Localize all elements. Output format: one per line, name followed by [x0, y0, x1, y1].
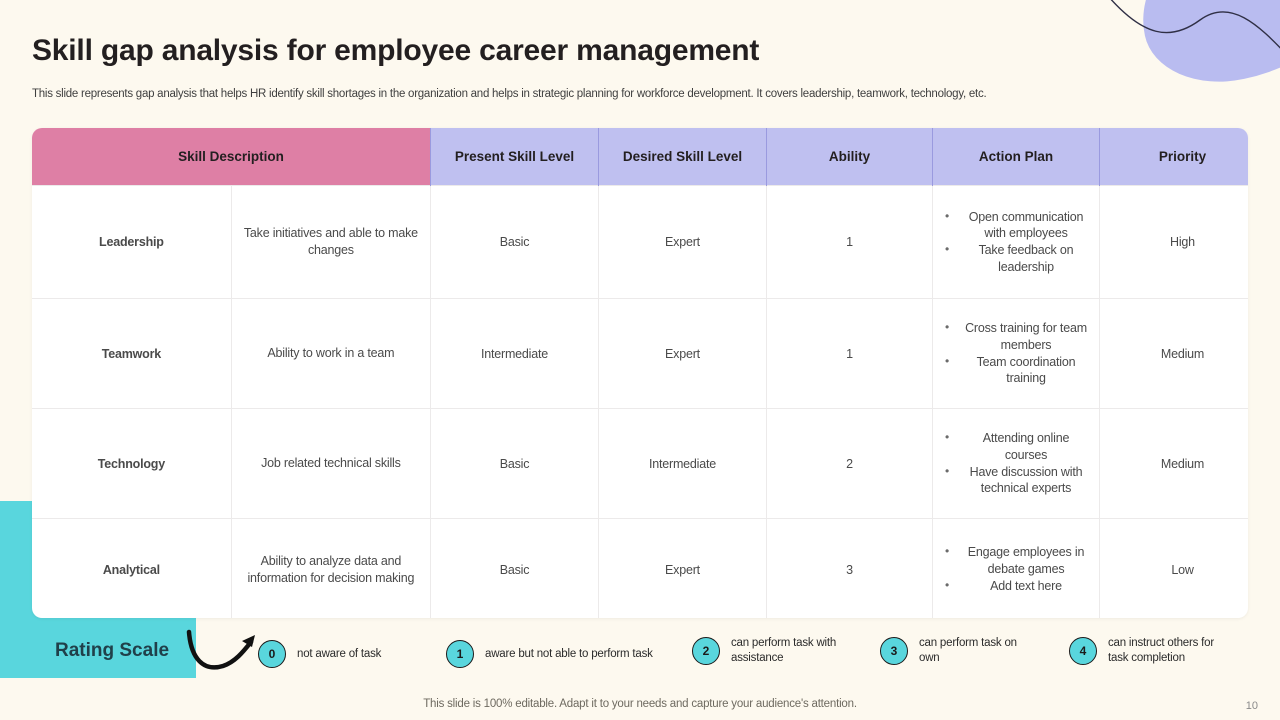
rating-value-badge: 3 [880, 637, 908, 665]
curved-arrow-icon [185, 628, 265, 688]
action-plan-item: Team coordination training [941, 354, 1091, 388]
cell-skill-description: Take initiatives and able to make change… [231, 186, 430, 299]
skill-gap-table-container: Skill Description Present Skill Level De… [32, 128, 1248, 618]
action-plan-item: Cross training for team members [941, 320, 1091, 354]
cell-skill-description: Ability to analyze data and information … [231, 519, 430, 619]
cell-ability: 3 [767, 519, 933, 619]
cell-present-skill-level: Basic [431, 186, 599, 299]
action-plan-item: Have discussion with technical experts [941, 464, 1091, 498]
rating-scale-label: Rating Scale [55, 640, 169, 662]
cell-priority: Low [1100, 519, 1249, 619]
skill-gap-table: Skill Description Present Skill Level De… [32, 128, 1248, 618]
cell-desired-skill-level: Expert [599, 299, 767, 409]
table-body: LeadershipTake initiatives and able to m… [32, 186, 1248, 619]
rating-scale-list: 0not aware of task1aware but not able to… [258, 636, 1268, 676]
table-row: TechnologyJob related technical skillsBa… [32, 409, 1248, 519]
slide-canvas: Skill gap analysis for employee career m… [0, 0, 1280, 720]
rating-scale-item: 2can perform task with assistance [692, 636, 851, 666]
cell-desired-skill-level: Expert [599, 519, 767, 619]
rating-value-badge: 1 [446, 640, 474, 668]
page-subtitle: This slide represents gap analysis that … [32, 88, 1212, 100]
cell-present-skill-level: Basic [431, 519, 599, 619]
rating-value-badge: 4 [1069, 637, 1097, 665]
column-header-priority: Priority [1100, 128, 1249, 186]
cell-present-skill-level: Intermediate [431, 299, 599, 409]
cell-priority: Medium [1100, 299, 1249, 409]
rating-description: aware but not able to perform task [485, 647, 653, 662]
rating-scale-item: 4can instruct others for task completion [1069, 636, 1228, 666]
table-header-row: Skill Description Present Skill Level De… [32, 128, 1248, 186]
rating-scale-item: 0not aware of task [258, 640, 381, 668]
action-plan-list: Open communication with employeesTake fe… [941, 209, 1091, 276]
action-plan-list: Attending online coursesHave discussion … [941, 430, 1091, 497]
action-plan-item: Take feedback on leadership [941, 242, 1091, 276]
cell-ability: 1 [767, 186, 933, 299]
cell-priority: High [1100, 186, 1249, 299]
action-plan-item: Open communication with employees [941, 209, 1091, 243]
rating-scale-item: 1aware but not able to perform task [446, 640, 653, 668]
action-plan-list: Engage employees in debate gamesAdd text… [941, 544, 1091, 594]
rating-description: can instruct others for task completion [1108, 636, 1228, 666]
table-row: TeamworkAbility to work in a teamInterme… [32, 299, 1248, 409]
table-row: LeadershipTake initiatives and able to m… [32, 186, 1248, 299]
cell-ability: 2 [767, 409, 933, 519]
curved-line-decoration [1108, 0, 1280, 70]
column-header-desired-skill-level: Desired Skill Level [599, 128, 767, 186]
cell-desired-skill-level: Expert [599, 186, 767, 299]
column-header-ability: Ability [767, 128, 933, 186]
cell-present-skill-level: Basic [431, 409, 599, 519]
purple-blob-decoration [1127, 0, 1280, 97]
cell-action-plan: Open communication with employeesTake fe… [933, 186, 1100, 299]
cell-skill-name: Technology [32, 409, 231, 519]
cell-skill-name: Teamwork [32, 299, 231, 409]
cell-skill-description: Job related technical skills [231, 409, 430, 519]
cell-action-plan: Attending online coursesHave discussion … [933, 409, 1100, 519]
cell-skill-name: Leadership [32, 186, 231, 299]
action-plan-item: Add text here [941, 578, 1091, 595]
rating-description: can perform task on own [919, 636, 1029, 666]
rating-description: not aware of task [297, 647, 381, 662]
action-plan-list: Cross training for team membersTeam coor… [941, 320, 1091, 387]
cell-action-plan: Cross training for team membersTeam coor… [933, 299, 1100, 409]
rating-scale-item: 3can perform task on own [880, 636, 1029, 666]
column-header-present-skill-level: Present Skill Level [431, 128, 599, 186]
cell-skill-description: Ability to work in a team [231, 299, 430, 409]
page-number: 10 [1246, 700, 1258, 712]
action-plan-item: Engage employees in debate games [941, 544, 1091, 578]
table-row: AnalyticalAbility to analyze data and in… [32, 519, 1248, 619]
cell-ability: 1 [767, 299, 933, 409]
footer-note: This slide is 100% editable. Adapt it to… [0, 698, 1280, 710]
rating-value-badge: 2 [692, 637, 720, 665]
cell-desired-skill-level: Intermediate [599, 409, 767, 519]
column-header-skill-description: Skill Description [32, 128, 431, 186]
rating-description: can perform task with assistance [731, 636, 851, 666]
cell-skill-name: Analytical [32, 519, 231, 619]
cell-priority: Medium [1100, 409, 1249, 519]
table-header: Skill Description Present Skill Level De… [32, 128, 1248, 186]
column-header-action-plan: Action Plan [933, 128, 1100, 186]
action-plan-item: Attending online courses [941, 430, 1091, 464]
cell-action-plan: Engage employees in debate gamesAdd text… [933, 519, 1100, 619]
page-title: Skill gap analysis for employee career m… [32, 34, 759, 68]
rating-value-badge: 0 [258, 640, 286, 668]
